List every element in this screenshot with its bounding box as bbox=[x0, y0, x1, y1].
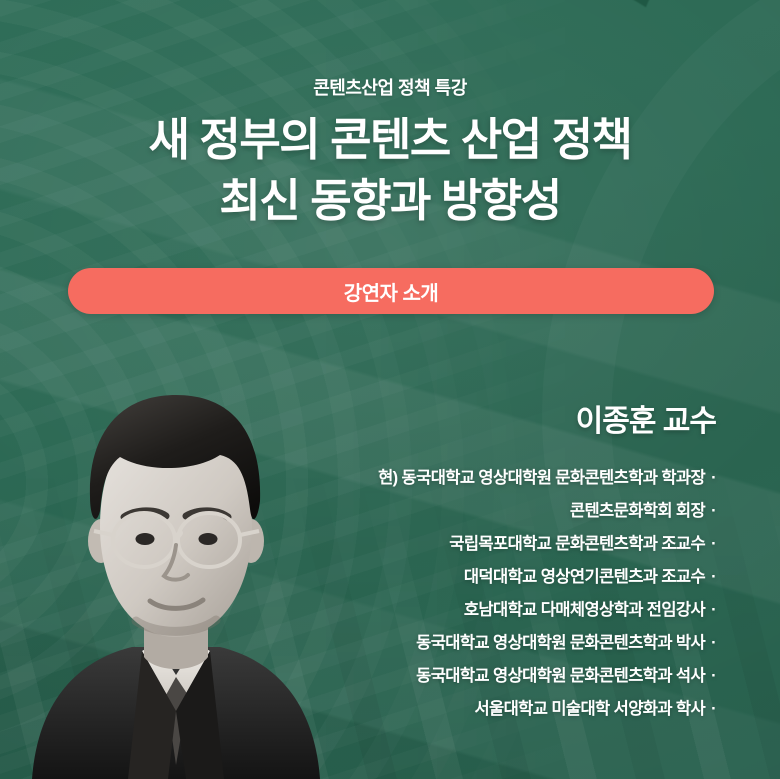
credential-item: 콘텐츠문화학회 회장· bbox=[246, 503, 716, 520]
credential-item: 현) 동국대학교 영상대학원 문화콘텐츠학과 학과장· bbox=[246, 470, 716, 487]
credential-bullet-dot: · bbox=[711, 601, 716, 619]
credential-bullet-dot: · bbox=[711, 535, 716, 553]
poster-eyebrow: 콘텐츠산업 정책 특강 bbox=[0, 74, 780, 100]
credential-text: 호남대학교 다매체영상학과 전임강사 bbox=[464, 601, 705, 619]
credential-bullet-dot: · bbox=[711, 634, 716, 652]
credential-item: 대덕대학교 영상연기콘텐츠과 조교수· bbox=[246, 569, 716, 586]
speaker-info: 이종훈 교수 현) 동국대학교 영상대학원 문화콘텐츠학과 학과장·콘텐츠문화학… bbox=[246, 396, 716, 734]
credential-text: 콘텐츠문화학회 회장 bbox=[570, 502, 705, 520]
credential-item: 호남대학교 다매체영상학과 전임강사· bbox=[246, 602, 716, 619]
speaker-intro-banner-label: 강연자 소개 bbox=[344, 277, 439, 306]
credential-bullet-dot: · bbox=[711, 502, 716, 520]
credential-text: 국립목포대학교 문화콘텐츠학과 조교수 bbox=[449, 535, 705, 553]
credential-item: 국립목포대학교 문화콘텐츠학과 조교수· bbox=[246, 536, 716, 553]
credential-bullet-dot: · bbox=[711, 700, 716, 718]
poster-title-line-2: 최신 동향과 방향성 bbox=[0, 174, 780, 227]
speaker-intro-banner[interactable]: 강연자 소개 bbox=[68, 268, 714, 314]
lecture-poster: 콘텐츠산업 정책 특강 새 정부의 콘텐츠 산업 정책 최신 동향과 방향성 강… bbox=[0, 0, 780, 779]
credential-bullet-dot: · bbox=[711, 469, 716, 487]
credential-text: 동국대학교 영상대학원 문화콘텐츠학과 석사 bbox=[416, 667, 705, 685]
credential-item: 서울대학교 미술대학 서양화과 학사· bbox=[246, 701, 716, 718]
speaker-credentials-list: 현) 동국대학교 영상대학원 문화콘텐츠학과 학과장·콘텐츠문화학회 회장·국립… bbox=[246, 470, 716, 718]
credential-bullet-dot: · bbox=[711, 568, 716, 586]
credential-text: 대덕대학교 영상연기콘텐츠과 조교수 bbox=[464, 568, 705, 586]
credential-text: 서울대학교 미술대학 서양화과 학사 bbox=[474, 700, 705, 718]
speaker-name: 이종훈 교수 bbox=[246, 396, 716, 440]
poster-title-line-1: 새 정부의 콘텐츠 산업 정책 bbox=[0, 113, 780, 166]
credential-item: 동국대학교 영상대학원 문화콘텐츠학과 박사· bbox=[246, 635, 716, 652]
credential-text: 동국대학교 영상대학원 문화콘텐츠학과 박사 bbox=[416, 634, 705, 652]
credential-item: 동국대학교 영상대학원 문화콘텐츠학과 석사· bbox=[246, 668, 716, 685]
credential-text: 현) 동국대학교 영상대학원 문화콘텐츠학과 학과장 bbox=[378, 469, 705, 487]
credential-bullet-dot: · bbox=[711, 667, 716, 685]
